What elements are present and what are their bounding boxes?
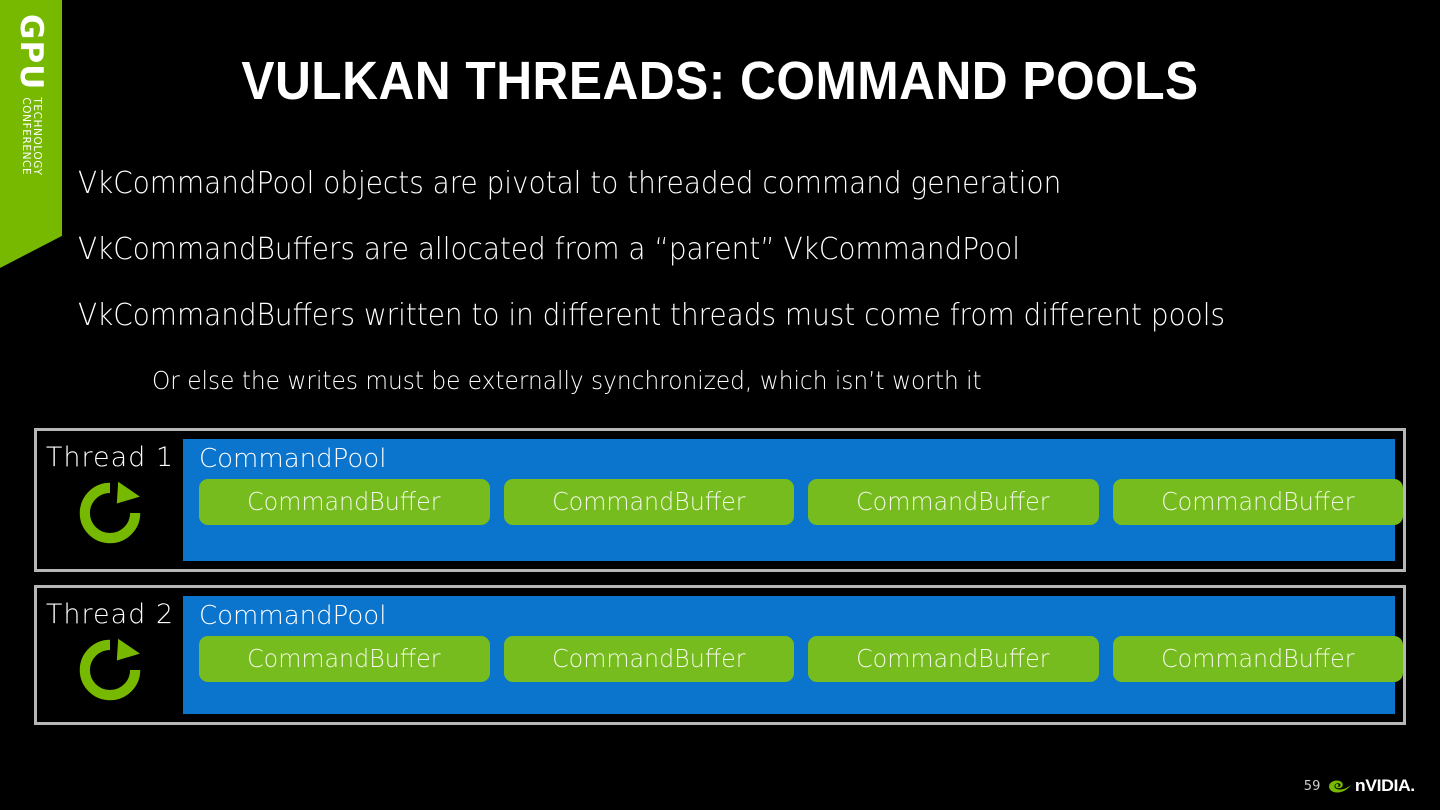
command-buffer-label: CommandBuffer xyxy=(1161,487,1354,516)
gtc-badge-subtitle: TECHNOLOGY CONFERENCE xyxy=(20,97,41,175)
nvidia-eye-icon xyxy=(1329,779,1351,794)
slide-canvas: GPU TECHNOLOGY CONFERENCE VULKAN THREADS… xyxy=(0,0,1440,810)
thread-name-label: Thread 2 xyxy=(46,599,174,630)
command-buffer-box[interactable]: CommandBuffer xyxy=(504,479,795,525)
command-buffer-box[interactable]: CommandBuffer xyxy=(199,479,490,525)
gtc-conference-badge: GPU TECHNOLOGY CONFERENCE xyxy=(0,0,62,268)
nvidia-logo: nVIDIA. xyxy=(1329,776,1414,796)
slide-footer: 59 nVIDIA. xyxy=(1304,776,1414,796)
command-buffer-strip: CommandBuffer CommandBuffer CommandBuffe… xyxy=(183,632,1403,682)
command-pool-panel: CommandPool CommandBuffer CommandBuffer … xyxy=(183,596,1395,714)
page-title: VULKAN THREADS: COMMAND POOLS xyxy=(58,50,1383,112)
command-buffer-box[interactable]: CommandBuffer xyxy=(808,479,1099,525)
refresh-loop-icon xyxy=(76,636,144,704)
command-buffer-label: CommandBuffer xyxy=(248,644,441,673)
command-buffer-label: CommandBuffer xyxy=(857,644,1050,673)
thread-label-column: Thread 1 xyxy=(37,431,183,569)
gtc-badge-text-stack: GPU TECHNOLOGY CONFERENCE xyxy=(0,0,62,268)
bullet-line-4-sub: Or else the writes must be externally sy… xyxy=(152,366,982,395)
command-pool-label: CommandPool xyxy=(183,445,1395,475)
command-buffer-label: CommandBuffer xyxy=(857,487,1050,516)
command-pool-label: CommandPool xyxy=(183,602,1395,632)
gtc-badge-conference-text: CONFERENCE xyxy=(20,97,31,175)
command-pool-panel: CommandPool CommandBuffer CommandBuffer … xyxy=(183,439,1395,561)
command-buffer-box[interactable]: CommandBuffer xyxy=(504,636,795,682)
command-buffer-label: CommandBuffer xyxy=(552,644,745,673)
page-number: 59 xyxy=(1304,779,1321,794)
command-buffer-box[interactable]: CommandBuffer xyxy=(808,636,1099,682)
gtc-badge-technology-text: TECHNOLOGY xyxy=(31,97,42,175)
thread-row: Thread 1 CommandPool CommandBuffer Comma… xyxy=(34,428,1406,572)
thread-name-label: Thread 1 xyxy=(46,442,174,473)
refresh-loop-icon xyxy=(76,479,144,547)
command-buffer-box[interactable]: CommandBuffer xyxy=(1113,479,1404,525)
command-buffer-box[interactable]: CommandBuffer xyxy=(199,636,490,682)
thread-label-column: Thread 2 xyxy=(37,588,183,722)
thread-row: Thread 2 CommandPool CommandBuffer Comma… xyxy=(34,585,1406,725)
bullet-line-3: VkCommandBuffers written to in different… xyxy=(78,298,1225,333)
command-buffer-strip: CommandBuffer CommandBuffer CommandBuffe… xyxy=(183,475,1403,525)
command-buffer-label: CommandBuffer xyxy=(248,487,441,516)
bullet-line-2: VkCommandBuffers are allocated from a “p… xyxy=(78,232,1020,267)
nvidia-wordmark: nVIDIA. xyxy=(1355,776,1415,796)
bullet-line-1: VkCommandPool objects are pivotal to thr… xyxy=(78,166,1061,201)
command-buffer-box[interactable]: CommandBuffer xyxy=(1113,636,1404,682)
command-buffer-label: CommandBuffer xyxy=(552,487,745,516)
command-buffer-label: CommandBuffer xyxy=(1161,644,1354,673)
gtc-badge-gpu-text: GPU xyxy=(16,14,47,90)
